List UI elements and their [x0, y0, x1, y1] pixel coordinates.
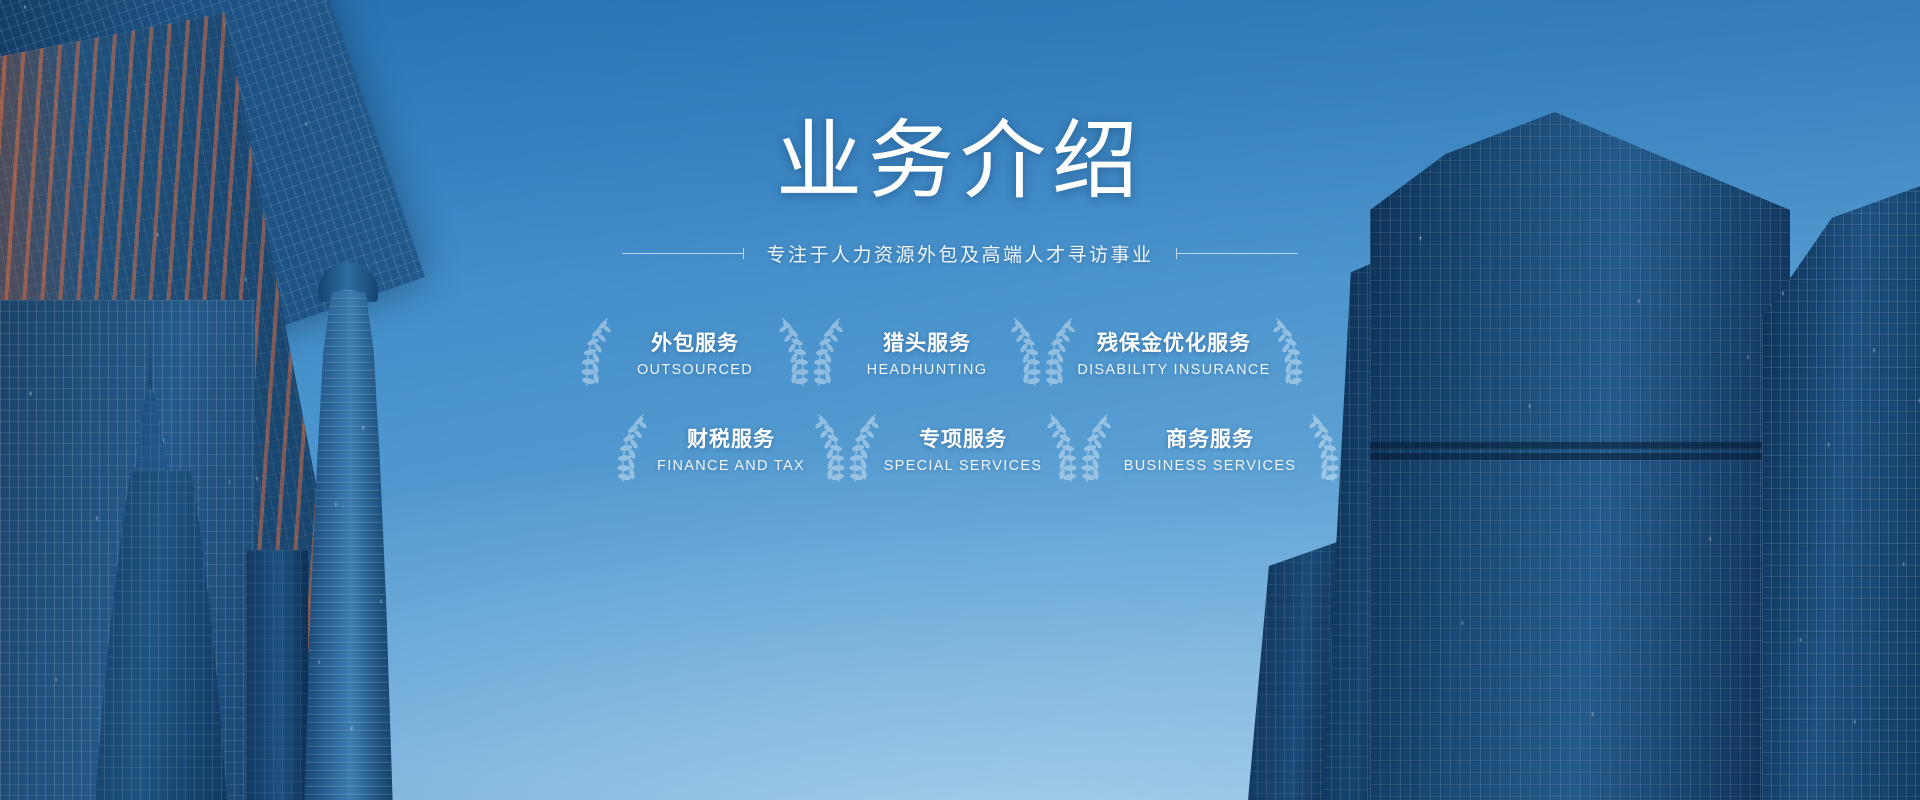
service-title-en: OUTSOURCED [637, 362, 753, 378]
service-title-en: HEADHUNTING [867, 362, 988, 378]
subtitle-row: 专注于人力资源外包及高端人才寻访事业 [622, 240, 1297, 267]
service-title-cn: 猎头服务 [883, 330, 971, 356]
service-title-en: DISABILITY INSURANCE [1077, 362, 1270, 378]
service-title-cn: 商务服务 [1166, 426, 1254, 452]
divider-line-left-icon [622, 253, 744, 254]
service-row-1: 外包服务 OUTSOURCED [579, 313, 1341, 395]
service-list: 外包服务 OUTSOURCED [579, 313, 1341, 491]
service-item-disability-insurance[interactable]: 残保金优化服务 DISABILITY INSURANCE [1043, 313, 1305, 395]
laurel-wreath-icon [809, 315, 843, 391]
laurel-wreath-icon [1309, 411, 1343, 487]
service-title-cn: 专项服务 [919, 426, 1007, 452]
laurel-wreath-icon [1011, 315, 1045, 391]
service-title-cn: 外包服务 [651, 330, 739, 356]
service-item-outsourced[interactable]: 外包服务 OUTSOURCED [579, 313, 811, 395]
service-title-en: FINANCE AND TAX [657, 458, 805, 474]
service-title-cn: 财税服务 [687, 426, 775, 452]
service-item-finance-and-tax[interactable]: 财税服务 FINANCE AND TAX [615, 409, 847, 491]
service-item-special-services[interactable]: 专项服务 SPECIAL SERVICES [847, 409, 1079, 491]
laurel-wreath-icon [1041, 315, 1075, 391]
hero-content: 业务介绍 专注于人力资源外包及高端人才寻访事业 [0, 0, 1920, 800]
service-title-en: SPECIAL SERVICES [884, 458, 1043, 474]
laurel-wreath-icon [613, 411, 647, 487]
service-row-2: 财税服务 FINANCE AND TAX [615, 409, 1341, 491]
hero-banner: 业务介绍 专注于人力资源外包及高端人才寻访事业 [0, 0, 1920, 800]
service-title-en: BUSINESS SERVICES [1124, 458, 1297, 474]
laurel-wreath-icon [1077, 411, 1111, 487]
page-subtitle: 专注于人力资源外包及高端人才寻访事业 [766, 240, 1153, 267]
page-title: 业务介绍 [776, 118, 1144, 204]
service-title-cn: 残保金优化服务 [1097, 330, 1251, 356]
laurel-wreath-icon [1047, 411, 1081, 487]
laurel-wreath-icon [815, 411, 849, 487]
service-item-headhunting[interactable]: 猎头服务 HEADHUNTING [811, 313, 1043, 395]
laurel-wreath-icon [577, 315, 611, 391]
divider-line-right-icon [1176, 253, 1298, 254]
laurel-wreath-icon [1273, 315, 1307, 391]
laurel-wreath-icon [779, 315, 813, 391]
laurel-wreath-icon [845, 411, 879, 487]
service-item-business-services[interactable]: 商务服务 BUSINESS SERVICES [1079, 409, 1341, 491]
